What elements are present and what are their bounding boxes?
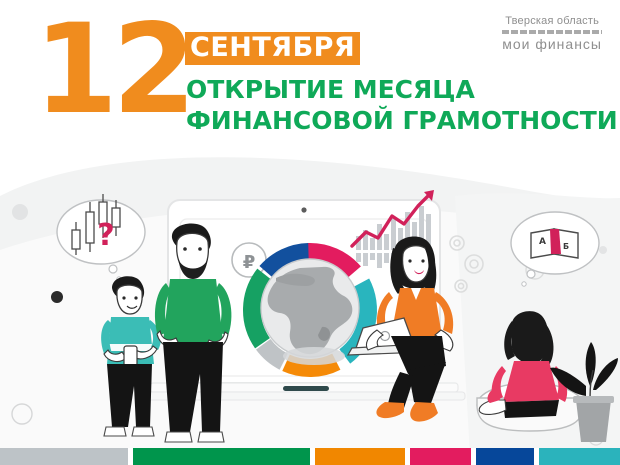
colorbar-segment-orange: [315, 448, 405, 465]
figure-girl-pink: [477, 311, 583, 431]
brand-region-label: Тверская область: [502, 15, 602, 28]
month-label: СЕНТЯБРЯ: [190, 34, 355, 61]
day-number: 12: [34, 14, 191, 126]
title-line-2: ФИНАНСОВОЙ ГРАМОТНОСТИ: [186, 108, 618, 133]
colorbar-segment-green: [133, 448, 310, 465]
svg-text:?: ?: [97, 218, 114, 253]
brand-divider: [502, 30, 602, 34]
poster-root: 12 СЕНТЯБРЯ ОТКРЫТИЕ МЕСЯЦА ФИНАНСОВОЙ Г…: [0, 0, 620, 465]
thought-bubble-candlestick: ?: [57, 194, 145, 281]
thought-bubble-book: A Б: [511, 212, 599, 286]
main-illustration: ₽: [0, 150, 620, 450]
bottom-color-bar: [0, 448, 620, 465]
colorbar-segment-grey: [0, 448, 128, 465]
svg-text:₽: ₽: [243, 252, 256, 273]
open-book-icon: A Б: [531, 229, 578, 258]
header: 12 СЕНТЯБРЯ ОТКРЫТИЕ МЕСЯЦА ФИНАНСОВОЙ Г…: [0, 0, 620, 160]
month-highlight-box: СЕНТЯБРЯ: [185, 32, 360, 65]
svg-text:Б: Б: [563, 242, 569, 251]
brand-name-label: мои финансы: [502, 36, 602, 52]
svg-text:A: A: [539, 237, 546, 247]
brand-logo: Тверская область мои финансы: [502, 15, 602, 52]
gear-icons: [450, 236, 483, 292]
colorbar-segment-crimson: [410, 448, 471, 465]
colorbar-segment-teal: [539, 448, 620, 465]
figure-person-teal: [101, 276, 161, 436]
colorbar-segment-blue: [476, 448, 534, 465]
title-line-1: ОТКРЫТИЕ МЕСЯЦА: [186, 77, 475, 102]
